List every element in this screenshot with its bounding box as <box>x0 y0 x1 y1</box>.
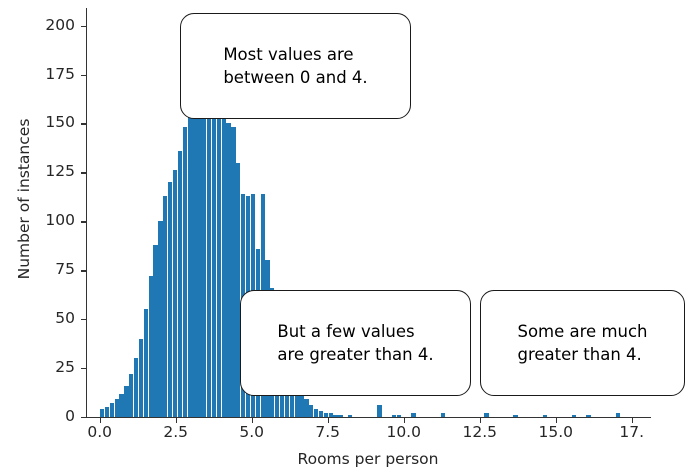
histogram-bar <box>304 399 308 417</box>
histogram-bar <box>484 413 488 417</box>
histogram-bar <box>338 415 342 417</box>
y-tick-label: 75 <box>3 262 75 278</box>
annotation-text: Most values are between 0 and 4. <box>223 43 367 90</box>
histogram-figure: Number of instances 02550751001251501752… <box>0 0 690 472</box>
histogram-bar <box>299 394 303 417</box>
histogram-bar <box>616 413 620 417</box>
x-axis-label: Rooms per person <box>86 450 650 468</box>
histogram-bar <box>333 415 337 417</box>
annotation-callout-few-values: But a few values are greater than 4. <box>240 290 471 396</box>
histogram-bar <box>110 403 114 417</box>
histogram-bar <box>543 415 547 417</box>
histogram-bar <box>192 84 196 417</box>
y-tick-label: 100 <box>3 213 75 229</box>
annotation-callout-some-much-greater: Some are much greater than 4. <box>480 290 685 396</box>
histogram-bar <box>226 123 230 417</box>
x-tick-label: 2.5 <box>136 425 216 441</box>
histogram-bar <box>183 127 187 417</box>
histogram-bar <box>377 405 381 417</box>
x-tick-label: 10.0 <box>364 425 444 441</box>
histogram-bar <box>173 170 177 417</box>
y-tick-label: 50 <box>3 311 75 327</box>
histogram-bar <box>188 114 192 417</box>
histogram-bar <box>144 309 148 417</box>
histogram-bar <box>158 221 162 417</box>
histogram-bar <box>149 276 153 417</box>
histogram-bar <box>202 88 206 417</box>
y-tick-label: 150 <box>3 115 75 131</box>
annotation-callout-most-values: Most values are between 0 and 4. <box>180 13 411 119</box>
histogram-bar <box>129 374 133 417</box>
x-tick-label: 0.0 <box>60 425 140 441</box>
histogram-bar <box>178 151 182 417</box>
histogram-bar <box>124 386 128 417</box>
histogram-bar <box>329 413 333 417</box>
y-tick-label: 0 <box>3 409 75 425</box>
y-tick-label: 200 <box>3 18 75 34</box>
histogram-bar <box>231 127 235 417</box>
annotation-text: But a few values are greater than 4. <box>277 320 433 367</box>
histogram-bar <box>139 339 143 417</box>
y-tick-label: 125 <box>3 164 75 180</box>
histogram-bar <box>163 196 167 417</box>
x-tick-label: 17. <box>592 425 672 441</box>
histogram-bar <box>348 415 352 417</box>
histogram-bar <box>100 409 104 417</box>
x-tick-label: 5.0 <box>212 425 292 441</box>
histogram-bar <box>397 415 401 417</box>
histogram-bar <box>222 78 226 417</box>
x-tick-label: 15.0 <box>516 425 596 441</box>
histogram-bar <box>168 182 172 417</box>
histogram-bar <box>586 415 590 417</box>
x-axis-spine <box>86 417 651 418</box>
x-tick-label: 7.5 <box>288 425 368 441</box>
histogram-bar <box>392 415 396 417</box>
histogram-bar <box>314 409 318 417</box>
histogram-bar <box>324 413 328 417</box>
histogram-bar <box>319 411 323 417</box>
y-tick-label: 25 <box>3 360 75 376</box>
histogram-bar <box>207 75 211 417</box>
histogram-bar <box>153 245 157 417</box>
histogram-bar <box>134 358 138 417</box>
histogram-bar <box>105 407 109 417</box>
histogram-bar <box>572 415 576 417</box>
y-tick-label: 175 <box>3 67 75 83</box>
histogram-bar <box>513 415 517 417</box>
histogram-bar <box>411 413 415 417</box>
histogram-bar <box>309 405 313 417</box>
histogram-bar <box>115 399 119 417</box>
histogram-bar <box>441 413 445 417</box>
x-tick-label: 12.5 <box>440 425 520 441</box>
histogram-bar <box>119 394 123 417</box>
annotation-text: Some are much greater than 4. <box>517 320 647 367</box>
